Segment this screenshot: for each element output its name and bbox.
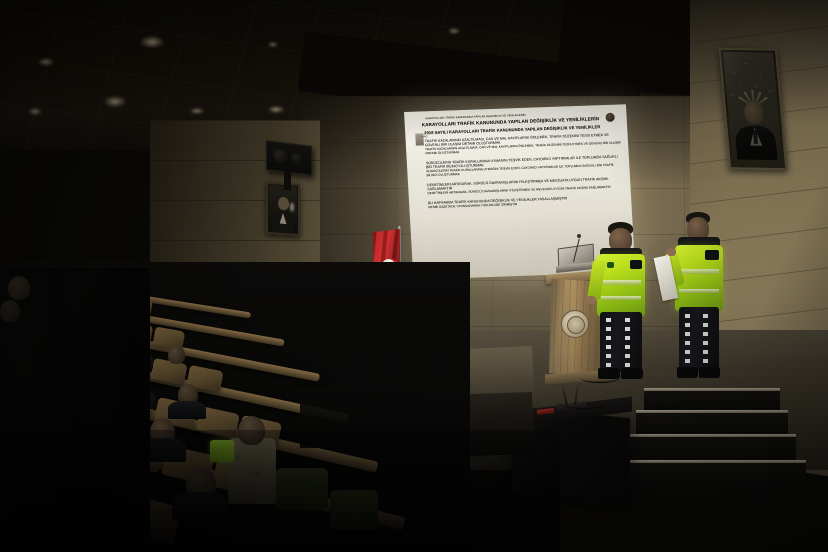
trouser-reflective-stripe <box>703 314 708 366</box>
step-nosing <box>620 460 806 463</box>
step <box>620 460 806 486</box>
audience-camouflage-uniform <box>228 438 276 504</box>
step-nosing <box>636 410 788 413</box>
ceiling-light <box>268 106 284 113</box>
ceiling-light <box>190 108 204 114</box>
boot <box>621 368 643 379</box>
ataturk-portrait-frame <box>266 182 300 236</box>
reflective-stripe <box>601 280 641 285</box>
boot <box>699 367 720 378</box>
hand <box>667 248 676 256</box>
speaker-standing <box>672 212 732 384</box>
ceiling-light <box>38 58 54 66</box>
step <box>644 388 780 410</box>
step <box>636 410 788 434</box>
floor-cable <box>556 392 616 409</box>
podium-emblem-icon <box>561 310 589 338</box>
reflective-stripe <box>679 289 719 293</box>
speaker-cone-icon <box>273 148 287 164</box>
audience-shoulders <box>168 401 206 419</box>
step-nosing <box>644 388 780 391</box>
ceiling-light <box>140 36 164 48</box>
president-portrait-frame <box>719 48 788 171</box>
reflective-stripe <box>679 269 719 274</box>
speaker-cone-icon <box>291 152 302 164</box>
hivis-armband <box>210 440 234 462</box>
green-bag <box>330 490 378 530</box>
foreground-silhouette <box>0 268 150 552</box>
speaker-mount-arm <box>284 168 291 191</box>
trouser-reflective-stripe <box>606 318 611 368</box>
reflective-stripe <box>601 296 641 300</box>
shoulder-patch <box>705 250 719 260</box>
ceiling-light <box>448 28 460 34</box>
ceiling-light <box>28 108 42 115</box>
microphone-head-icon <box>577 234 581 238</box>
audience-head <box>0 300 20 322</box>
portrait-dim-overlay <box>721 50 786 168</box>
green-bag <box>276 468 328 510</box>
rear-audience-right <box>300 388 370 448</box>
audience-head <box>168 346 185 364</box>
speaker-at-podium <box>592 222 654 382</box>
ceiling-light <box>104 96 126 107</box>
hand <box>586 296 596 304</box>
floor-cable <box>580 372 620 383</box>
trouser-reflective-stripe <box>625 318 630 368</box>
chest-badge <box>607 262 614 268</box>
step <box>628 434 796 460</box>
audience-shoulders <box>172 492 228 520</box>
podium-emblem-inner <box>567 316 585 334</box>
slide-emblem-icon <box>415 133 424 145</box>
trouser-reflective-stripe <box>685 314 690 366</box>
stage-steps <box>624 386 828 484</box>
boot <box>677 367 698 378</box>
ceiling-light <box>268 42 278 47</box>
auditorium-photo: KARAYOLLARI TRAFİK KANUNUNDA YAPILAN DEĞ… <box>0 0 828 552</box>
audience-head <box>238 416 265 445</box>
shoulder-patch <box>630 260 642 269</box>
audience-head <box>8 276 30 300</box>
step-nosing <box>628 434 796 437</box>
